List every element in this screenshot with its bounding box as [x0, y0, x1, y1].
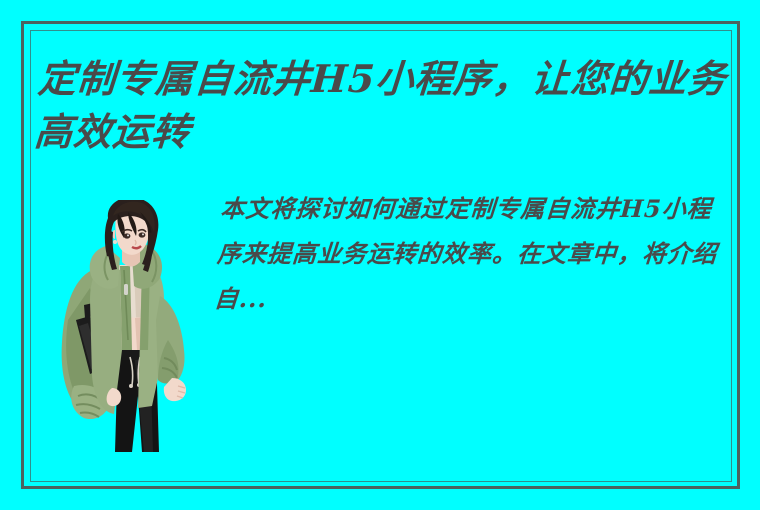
article-card: 定制专属自流井H5小程序，让您的业务高效运转 本文将探讨如何通过定制专属自流井H…: [0, 0, 760, 510]
page-title: 定制专属自流井H5小程序，让您的业务高效运转: [33, 52, 732, 158]
article-summary: 本文将探讨如何通过定制专属自流井H5小程序来提高业务运转的效率。在文章中，将介绍…: [213, 186, 724, 321]
fashion-figure-illustration: [60, 200, 205, 452]
